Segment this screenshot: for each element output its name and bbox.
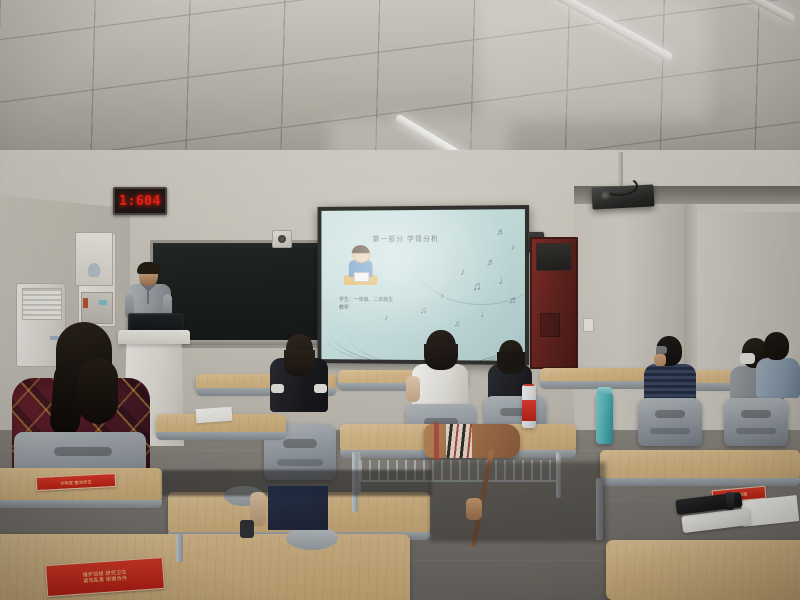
handbag-plaid[interactable]: [424, 420, 520, 462]
face-mask: [740, 353, 755, 364]
student-right-c: [756, 332, 800, 398]
student-mid-left: [268, 334, 330, 412]
chair[interactable]: [638, 398, 702, 446]
small-black-object[interactable]: [726, 492, 734, 510]
classroom-photo: 1:604 ♪ ♫ ♬ ♩ ♪ ♫ ♪ ♬ ♩ ♫ ♪ ♬: [0, 0, 800, 600]
wall-speaker: [272, 230, 292, 248]
water-bottle-red[interactable]: [522, 384, 536, 428]
desk-leg: [176, 534, 183, 562]
classroom-door[interactable]: [530, 237, 578, 369]
projector-lens: [600, 190, 610, 200]
leg: [466, 498, 482, 520]
skirt: [268, 486, 328, 530]
student-right-a: [644, 336, 696, 406]
thermos-teal[interactable]: [596, 392, 613, 444]
desk: [600, 450, 800, 480]
desk: [606, 540, 800, 600]
under-desk-shadow: [430, 462, 606, 542]
notice-board: [75, 232, 113, 286]
light-switch[interactable]: [583, 318, 594, 332]
chair[interactable]: [724, 398, 788, 446]
papers-left: [196, 407, 233, 423]
shoe: [240, 520, 254, 538]
glasses-icon: [653, 346, 667, 354]
led-wall-clock: 1:604: [113, 187, 167, 215]
student-center: [412, 330, 468, 408]
clock-display: 1:604: [119, 195, 161, 208]
light-glow: [480, 0, 710, 120]
